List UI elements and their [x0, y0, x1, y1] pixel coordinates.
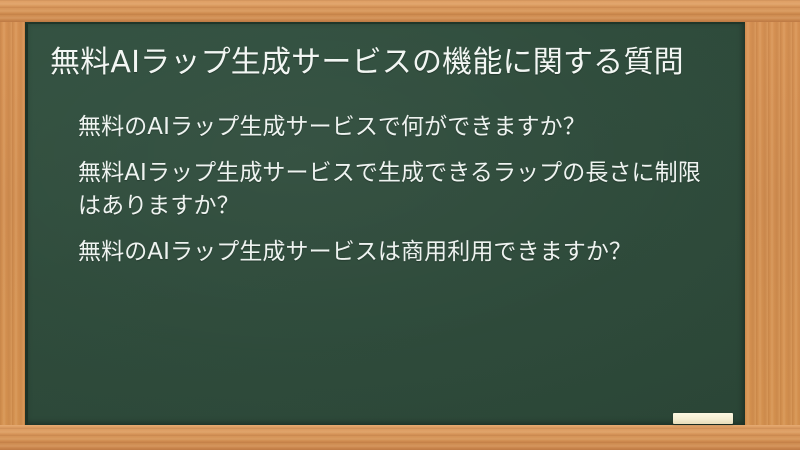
chalkboard-frame: 無料AIラップ生成サービスの機能に関する質問 無料のAIラップ生成サービスで何が… [0, 0, 800, 450]
list-item: 無料AIラップ生成サービスで生成できるラップの長さに制限はありますか？ [78, 157, 718, 223]
frame-rail-top [0, 0, 800, 22]
list-item: 無料のAIラップ生成サービスは商用利用できますか？ [78, 236, 718, 269]
question-list: 無料のAIラップ生成サービスで何ができますか？ 無料AIラップ生成サービスで生成… [50, 111, 723, 269]
page-title: 無料AIラップ生成サービスの機能に関する質問 [50, 42, 710, 85]
chalkboard-surface: 無料AIラップ生成サービスの機能に関する質問 無料のAIラップ生成サービスで何が… [25, 22, 745, 425]
frame-rail-bottom [0, 425, 800, 450]
chalk-stick-icon [673, 413, 733, 424]
list-item: 無料のAIラップ生成サービスで何ができますか？ [78, 111, 718, 144]
